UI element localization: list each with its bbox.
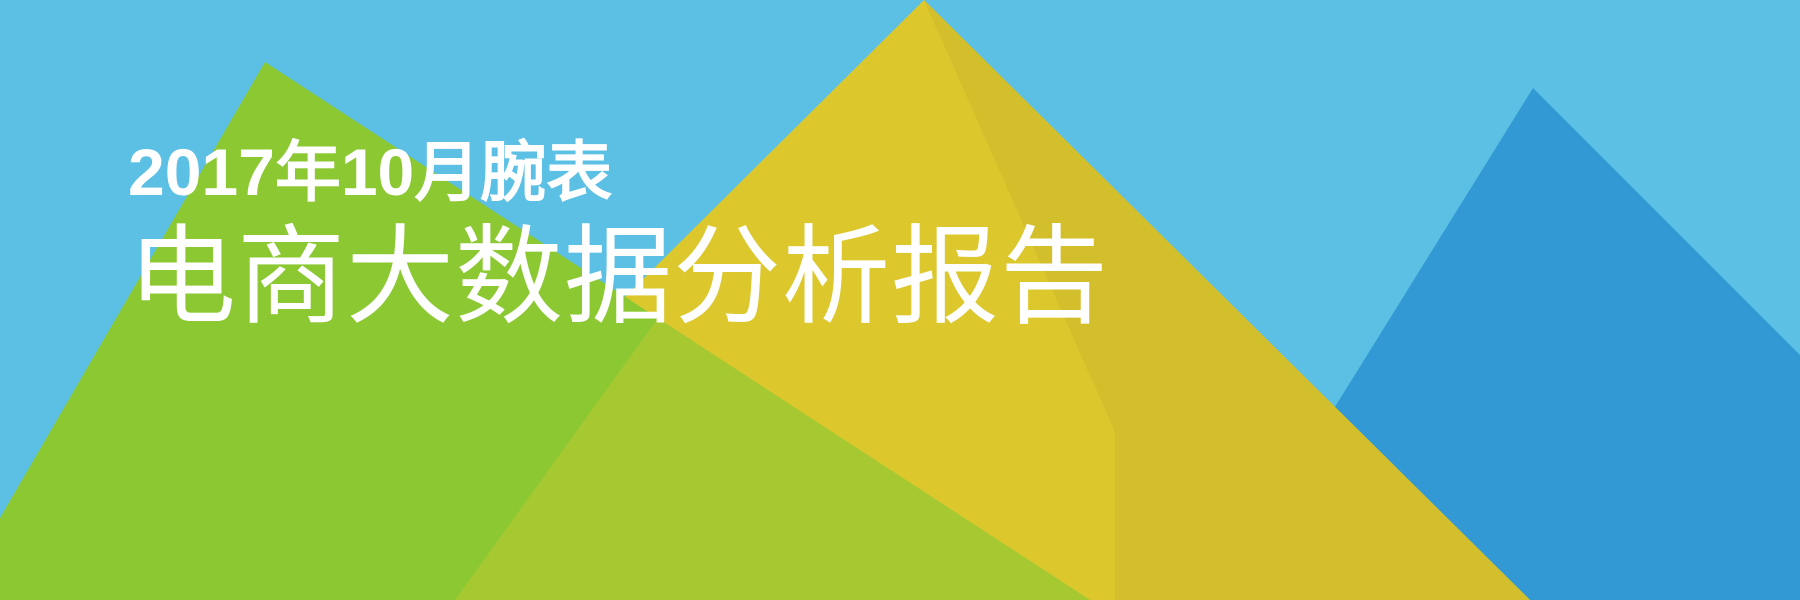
- background-geometric-artwork: [0, 0, 1800, 600]
- report-cover-banner: 2017年10月腕表 电商大数据分析报告: [0, 0, 1800, 600]
